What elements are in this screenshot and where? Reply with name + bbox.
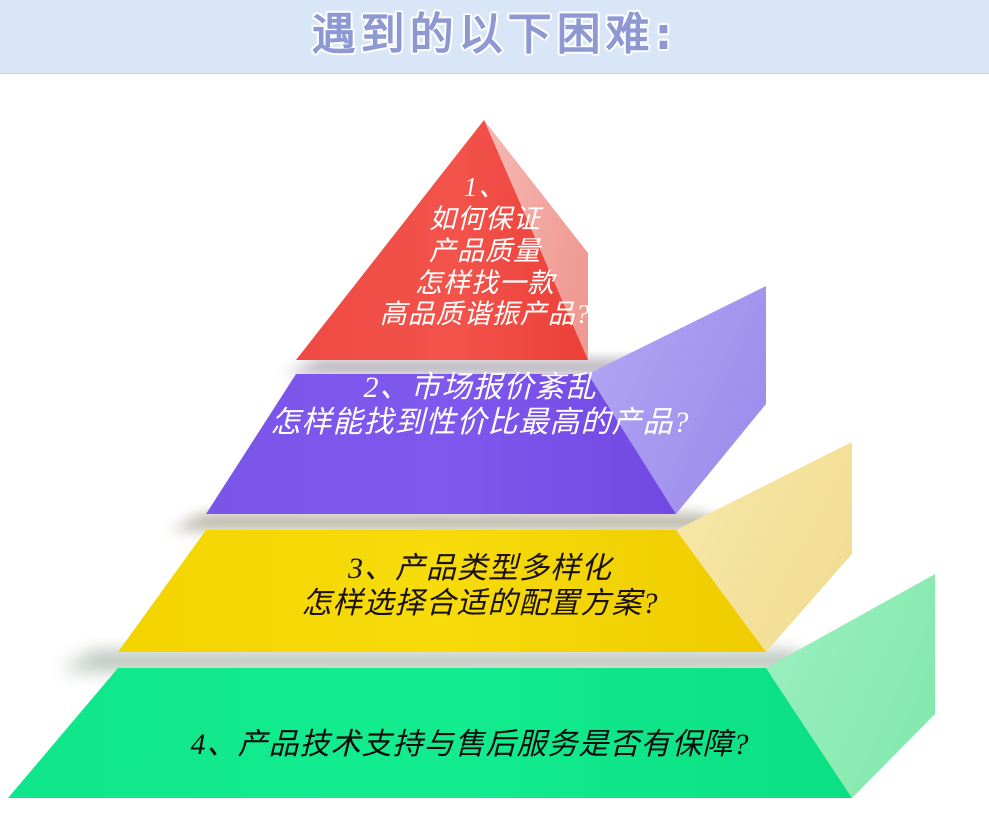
header-band: 遇到的以下困难:: [0, 0, 989, 74]
pyramid-graphic: [0, 74, 989, 831]
page-title: 遇到的以下困难:: [0, 2, 989, 68]
pyramid-level-1[interactable]: [296, 120, 588, 360]
pyramid-level-4-front: [8, 668, 852, 798]
pyramid-level-3-front: [118, 530, 766, 652]
pyramid-diagram: 1、 如何保证 产品质量 怎样找一款 高品质谐振产品? 2、市场报价紊乱 怎样能…: [0, 74, 989, 831]
